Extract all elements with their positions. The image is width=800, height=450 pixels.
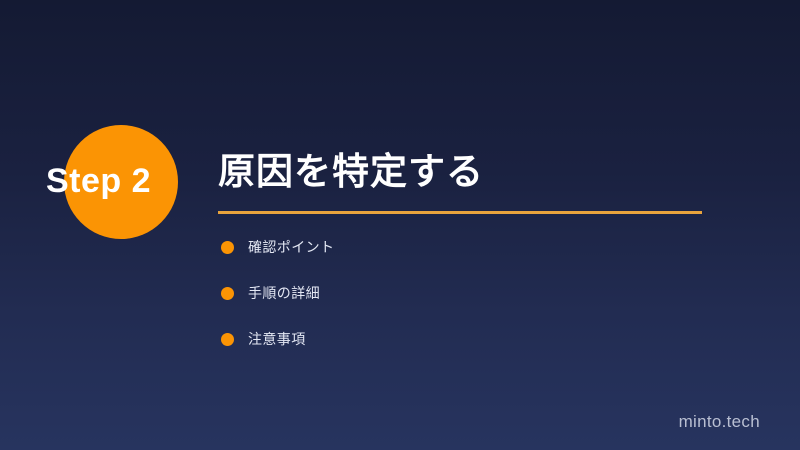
list-item-label: 確認ポイント	[248, 240, 334, 255]
list-item: 確認ポイント	[221, 240, 691, 286]
list-item: 注意事項	[221, 332, 691, 378]
slide-canvas: Step 2 原因を特定する 確認ポイント 手順の詳細 注意事項 minto.t…	[0, 0, 800, 450]
bullet-dot-icon	[221, 241, 234, 254]
slide-title: 原因を特定する	[218, 147, 484, 197]
list-item: 手順の詳細	[221, 286, 691, 332]
list-item-label: 注意事項	[248, 332, 306, 347]
title-divider	[218, 211, 702, 214]
bullet-list: 確認ポイント 手順の詳細 注意事項	[221, 240, 691, 378]
step-number-label: Step 2	[46, 159, 202, 203]
footer-brand-watermark: minto.tech	[679, 412, 760, 432]
list-item-label: 手順の詳細	[248, 286, 320, 301]
bullet-dot-icon	[221, 333, 234, 346]
bullet-dot-icon	[221, 287, 234, 300]
